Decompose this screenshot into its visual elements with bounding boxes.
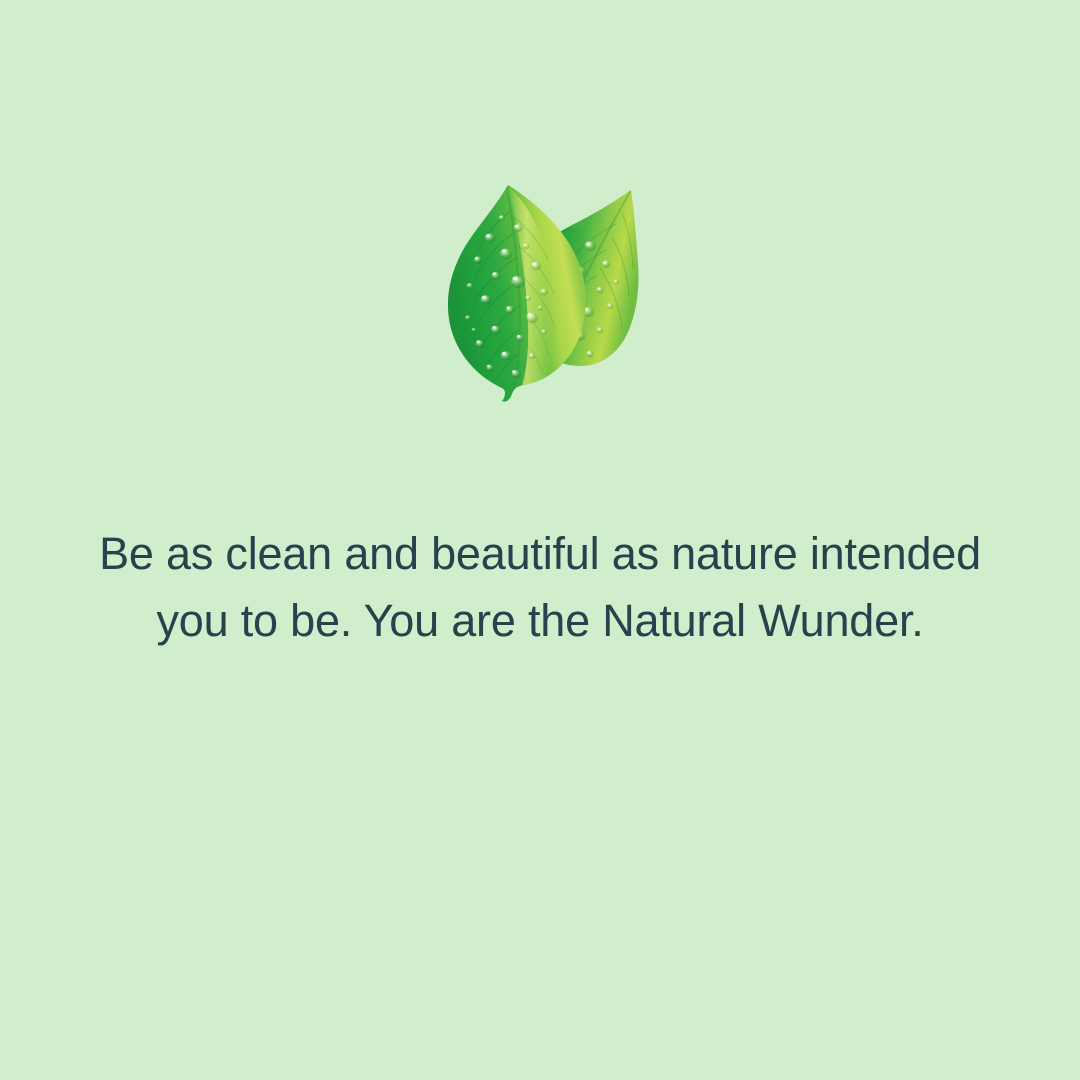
quote-block: Be as clean and beautiful as nature inte… [0,520,1080,654]
leaf-pair-with-water-droplets-icon [440,172,640,412]
quote-line-1: Be as clean and beautiful as nature inte… [0,520,1080,587]
quote-card: Be as clean and beautiful as nature inte… [0,0,1080,1080]
quote-line-2: you to be. You are the Natural Wunder. [0,587,1080,654]
front-leaf-shape [440,185,586,404]
